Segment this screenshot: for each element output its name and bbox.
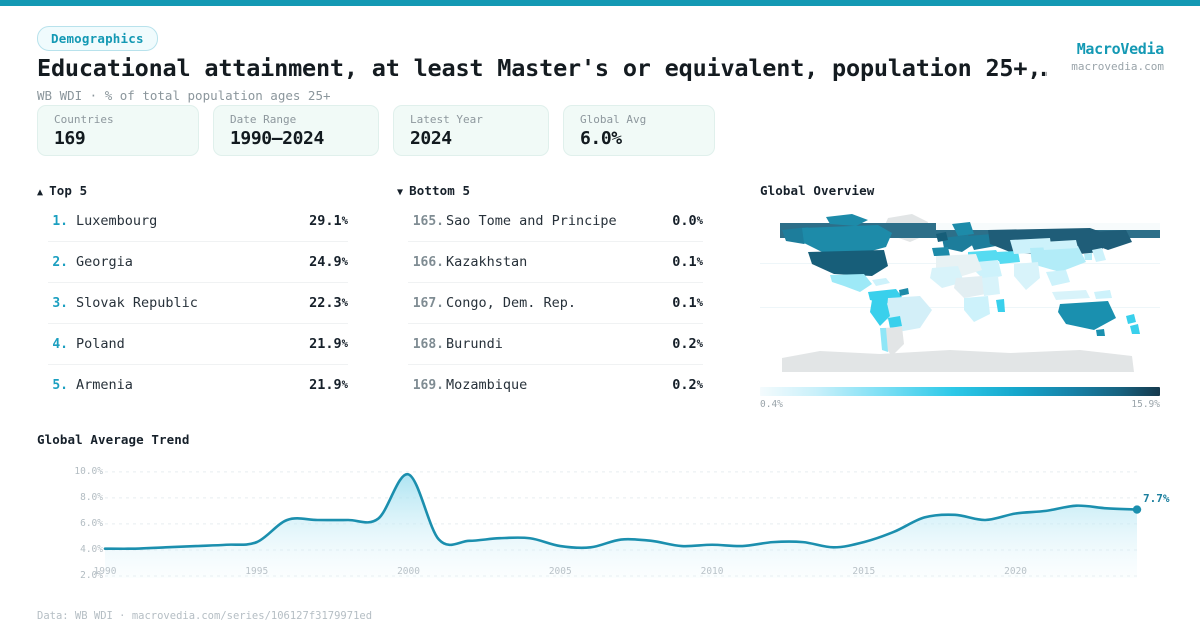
- stat-label: Date Range: [230, 113, 362, 126]
- percent-sign: %: [697, 256, 703, 268]
- world-map-svg: [760, 200, 1160, 385]
- rank: 1.: [48, 214, 68, 229]
- country-value: 0.1: [672, 295, 696, 311]
- list-item[interactable]: 3. Slovak Republic 22.3%: [48, 283, 348, 324]
- country-value: 21.9: [309, 377, 342, 393]
- legend-max-label: 15.9%: [1131, 399, 1160, 410]
- rank: 169.: [408, 378, 444, 393]
- x-axis-tick: 1990: [94, 566, 117, 577]
- bottom5-title: Bottom 5: [409, 183, 470, 198]
- stat-cards: Countries 169 Date Range 1990–2024 Lates…: [37, 105, 715, 156]
- stat-value: 1990–2024: [230, 128, 362, 149]
- list-item[interactable]: 165. Sao Tome and Principe 0.0%: [408, 201, 703, 242]
- country-value: 21.9: [309, 336, 342, 352]
- triangle-down-icon: ▼: [397, 187, 403, 198]
- y-axis-tick: 10.0%: [55, 466, 103, 477]
- chart-end-label: 7.7%: [1143, 492, 1170, 505]
- bottom5-list: 165. Sao Tome and Principe 0.0% 166. Kaz…: [408, 201, 703, 405]
- brand-name: MacroVedia: [1071, 40, 1164, 58]
- country-value: 24.9: [309, 254, 342, 270]
- percent-sign: %: [697, 215, 703, 227]
- stat-card-countries: Countries 169: [37, 105, 199, 156]
- country-value: 0.2: [672, 336, 696, 352]
- y-axis-tick: 8.0%: [55, 492, 103, 503]
- list-item[interactable]: 4. Poland 21.9%: [48, 324, 348, 365]
- rank: 166.: [408, 255, 444, 270]
- percent-sign: %: [342, 297, 348, 309]
- country-value: 0.2: [672, 377, 696, 393]
- category-badge: Demographics: [37, 26, 158, 51]
- trend-chart[interactable]: 10.0%8.0%6.0%4.0%2.0% 199019952000200520…: [37, 432, 1163, 582]
- x-axis-tick: 2010: [701, 566, 724, 577]
- page-subtitle: WB WDI · % of total population ages 25+: [37, 88, 331, 103]
- stat-label: Latest Year: [410, 113, 532, 126]
- x-axis-tick: 2005: [549, 566, 572, 577]
- stat-label: Global Avg: [580, 113, 698, 126]
- y-axis-tick: 4.0%: [55, 544, 103, 555]
- x-axis-tick: 1995: [245, 566, 268, 577]
- rank: 167.: [408, 296, 444, 311]
- chart-x-axis: 1990199520002005201020152020: [37, 566, 1163, 582]
- map-color-legend: 0.4% 15.9%: [760, 387, 1160, 410]
- chart-y-axis: 10.0%8.0%6.0%4.0%2.0%: [37, 454, 1163, 582]
- footer-source: Data: WB WDI · macrovedia.com/series/106…: [37, 610, 372, 622]
- rank: 3.: [48, 296, 68, 311]
- stat-value: 169: [54, 128, 182, 149]
- percent-sign: %: [697, 297, 703, 309]
- triangle-up-icon: ▲: [37, 187, 43, 198]
- top5-title: Top 5: [49, 183, 87, 198]
- stat-value: 2024: [410, 128, 532, 149]
- x-axis-tick: 2000: [397, 566, 420, 577]
- list-item[interactable]: 5. Armenia 21.9%: [48, 365, 348, 405]
- bottom5-heading: ▼Bottom 5: [397, 183, 470, 198]
- rank: 165.: [408, 214, 444, 229]
- stat-value: 6.0%: [580, 128, 698, 149]
- country-name: Georgia: [76, 254, 309, 270]
- country-name: Kazakhstan: [446, 254, 672, 270]
- country-name: Poland: [76, 336, 309, 352]
- country-value: 22.3: [309, 295, 342, 311]
- percent-sign: %: [342, 215, 348, 227]
- stat-card-date-range: Date Range 1990–2024: [213, 105, 379, 156]
- x-axis-tick: 2015: [852, 566, 875, 577]
- legend-labels: 0.4% 15.9%: [760, 399, 1160, 410]
- stat-label: Countries: [54, 113, 182, 126]
- rank: 168.: [408, 337, 444, 352]
- percent-sign: %: [342, 256, 348, 268]
- list-item[interactable]: 168. Burundi 0.2%: [408, 324, 703, 365]
- country-name: Mozambique: [446, 377, 672, 393]
- stat-card-latest-year: Latest Year 2024: [393, 105, 549, 156]
- list-item[interactable]: 2. Georgia 24.9%: [48, 242, 348, 283]
- y-axis-tick: 6.0%: [55, 518, 103, 529]
- rank: 5.: [48, 378, 68, 393]
- country-name: Armenia: [76, 377, 309, 393]
- percent-sign: %: [697, 379, 703, 391]
- list-item[interactable]: 169. Mozambique 0.2%: [408, 365, 703, 405]
- country-name: Congo, Dem. Rep.: [446, 295, 672, 311]
- stat-card-global-avg: Global Avg 6.0%: [563, 105, 715, 156]
- legend-gradient-bar: [760, 387, 1160, 396]
- country-name: Sao Tome and Principe: [446, 213, 672, 229]
- country-name: Slovak Republic: [76, 295, 309, 311]
- list-item[interactable]: 1. Luxembourg 29.1%: [48, 201, 348, 242]
- country-value: 0.1: [672, 254, 696, 270]
- list-item[interactable]: 166. Kazakhstan 0.1%: [408, 242, 703, 283]
- list-item[interactable]: 167. Congo, Dem. Rep. 0.1%: [408, 283, 703, 324]
- brand-block: MacroVedia macrovedia.com: [1071, 40, 1164, 73]
- x-axis-tick: 2020: [1004, 566, 1027, 577]
- top5-list: 1. Luxembourg 29.1% 2. Georgia 24.9% 3. …: [48, 201, 348, 405]
- country-name: Burundi: [446, 336, 672, 352]
- map-heading: Global Overview: [760, 183, 874, 198]
- page-header: Demographics Educational attainment, at …: [0, 6, 1200, 98]
- country-name: Luxembourg: [76, 213, 309, 229]
- legend-min-label: 0.4%: [760, 399, 783, 410]
- percent-sign: %: [342, 338, 348, 350]
- percent-sign: %: [697, 338, 703, 350]
- country-value: 29.1: [309, 213, 342, 229]
- brand-url: macrovedia.com: [1071, 60, 1164, 73]
- rank: 4.: [48, 337, 68, 352]
- world-map[interactable]: [760, 200, 1160, 385]
- page-title: Educational attainment, at least Master'…: [37, 54, 1047, 82]
- rank: 2.: [48, 255, 68, 270]
- percent-sign: %: [342, 379, 348, 391]
- top5-heading: ▲Top 5: [37, 183, 87, 198]
- country-value: 0.0: [672, 213, 696, 229]
